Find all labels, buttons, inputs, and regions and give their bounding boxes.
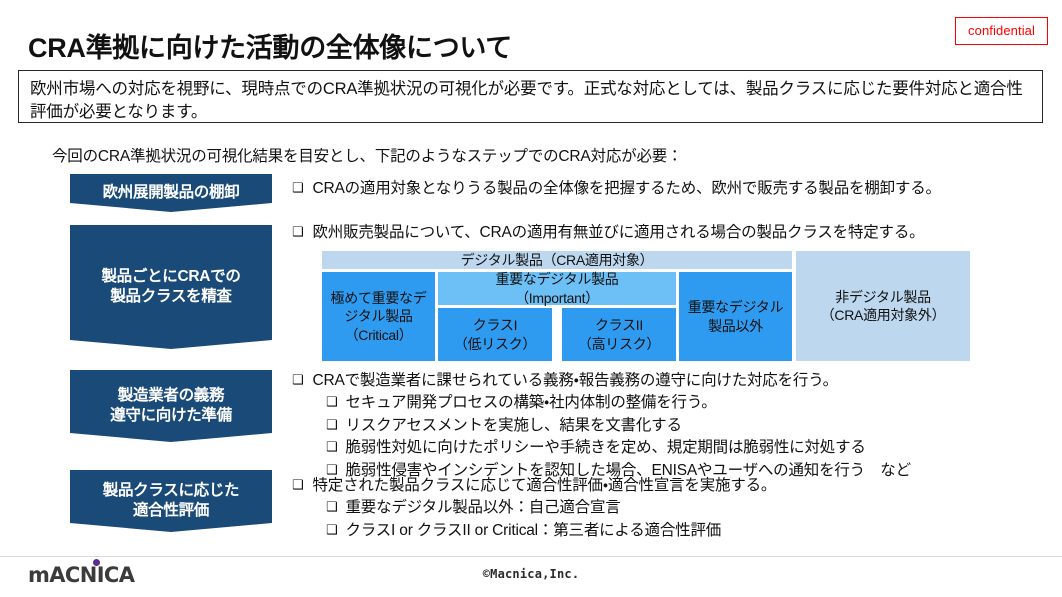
- table-cell-other-digital-text: 重要なデジタル 製品以外: [688, 298, 784, 334]
- bullet-step4-sub-1: ❑ 重要なデジタル製品以外：自己適合宣言: [326, 497, 776, 519]
- bullet-step3-sub-2: ❑ リスクアセスメントを実施し、結果を文書化する: [326, 415, 911, 437]
- step-2-label-line1: 製品ごとにCRAでの: [101, 268, 240, 285]
- copyright-text: ©Macnica,Inc.: [0, 567, 1062, 581]
- step-4-label: 製品クラスに応じた 適合性評価: [97, 481, 246, 521]
- bullet-step4-sub-1-text: 重要なデジタル製品以外：自己適合宣言: [345, 497, 620, 519]
- bullet-step3-sub-3-text: 脆弱性対処に向けたポリシーや手続きを定め、規定期間は脆弱性に対処する: [345, 437, 865, 459]
- checkbox-bullet-icon: ❑: [326, 497, 337, 518]
- step-1-label: 欧州展開製品の棚卸: [97, 183, 246, 203]
- table-cell-class1-text: クラスI （低リスク）: [454, 316, 536, 352]
- macnica-logo-dot-icon: [93, 559, 100, 566]
- table-cell-critical-text: 極めて重要なデ ジタル製品 （Critical）: [331, 289, 427, 344]
- table-cell-important: 重要なデジタル製品 （Important）: [438, 272, 676, 305]
- lead-text: 今回のCRA準拠状況の可視化結果を目安とし、下記のようなステップでのCRA対応が…: [52, 144, 682, 166]
- table-cell-class2-text: クラスII （高リスク）: [578, 316, 660, 352]
- step-box-4[interactable]: 製品クラスに応じた 適合性評価: [70, 470, 272, 532]
- other-digital-line1: 重要なデジタル: [688, 299, 784, 315]
- checkbox-bullet-icon: ❑: [326, 437, 337, 458]
- step-3-label-line1: 製造業者の義務: [118, 387, 224, 404]
- step-box-2[interactable]: 製品ごとにCRAでの 製品クラスを精査: [70, 225, 272, 349]
- step4-content: ❑ 特定された製品クラスに応じて適合性評価・適合性宣言を実施する。 ❑ 重要なデ…: [292, 475, 776, 542]
- step-2-label: 製品ごとにCRAでの 製品クラスを精査: [95, 267, 246, 307]
- non-digital-line2: （CRA適用対象外）: [821, 307, 946, 323]
- table-cell-important-text: 重要なデジタル製品 （Important）: [495, 270, 618, 306]
- bullet-step1: ❑ CRAの適用対象となりうる製品の全体像を把握するため、欧州で販売する製品を棚…: [292, 178, 941, 200]
- table-cell-non-digital-text: 非デジタル製品 （CRA適用対象外）: [821, 288, 946, 324]
- table-cell-non-digital: 非デジタル製品 （CRA適用対象外）: [796, 251, 970, 361]
- bullet-step3-text: CRAで製造業者に課せられている義務・報告義務の遵守に向けた対応を行う。: [312, 370, 837, 392]
- class2-line2: （高リスク）: [578, 336, 660, 352]
- bullet-step4-text: 特定された製品クラスに応じて適合性評価・適合性宣言を実施する。: [312, 475, 776, 497]
- checkbox-bullet-icon: ❑: [292, 475, 303, 496]
- class1-line1: クラスI: [473, 317, 517, 333]
- summary-text: 欧州市場への対応を視野に、現時点でのCRA準拠状況の可視化が必要です。正式な対応…: [30, 78, 1031, 125]
- checkbox-bullet-icon: ❑: [292, 178, 303, 199]
- critical-line1: 極めて重要なデ: [331, 290, 427, 306]
- checkbox-bullet-icon: ❑: [292, 370, 303, 391]
- step-4-label-line2: 適合性評価: [133, 502, 209, 519]
- step-3-label: 製造業者の義務 遵守に向けた準備: [104, 386, 238, 426]
- table-cell-critical: 極めて重要なデ ジタル製品 （Critical）: [322, 272, 435, 361]
- checkbox-bullet-icon: ❑: [326, 392, 337, 413]
- checkbox-bullet-icon: ❑: [326, 415, 337, 436]
- critical-line3: （Critical）: [345, 327, 413, 343]
- table-cell-class1: クラスI （低リスク）: [438, 308, 552, 361]
- bullet-step3: ❑ CRAで製造業者に課せられている義務・報告義務の遵守に向けた対応を行う。: [292, 370, 911, 392]
- bullet-step4: ❑ 特定された製品クラスに応じて適合性評価・適合性宣言を実施する。: [292, 475, 776, 497]
- step2-content: ❑ 欧州販売製品について、CRAの適用有無並びに適用される場合の製品クラスを特定…: [292, 222, 924, 244]
- important-line2: （Important）: [515, 290, 599, 306]
- summary-box: 欧州市場への対応を視野に、現時点でのCRA準拠状況の可視化が必要です。正式な対応…: [18, 70, 1043, 123]
- checkbox-bullet-icon: ❑: [292, 222, 303, 243]
- step-2-label-line2: 製品クラスを精査: [110, 288, 231, 305]
- bullet-step3-sub-2-text: リスクアセスメントを実施し、結果を文書化する: [345, 415, 681, 437]
- checkbox-bullet-icon: ❑: [326, 520, 337, 541]
- step1-content: ❑ CRAの適用対象となりうる製品の全体像を把握するため、欧州で販売する製品を棚…: [292, 178, 941, 200]
- table-cell-digital-header: デジタル製品（CRA適用対象）: [322, 251, 792, 269]
- bullet-step2: ❑ 欧州販売製品について、CRAの適用有無並びに適用される場合の製品クラスを特定…: [292, 222, 924, 244]
- step-3-label-line2: 遵守に向けた準備: [110, 407, 232, 424]
- step-box-1[interactable]: 欧州展開製品の棚卸: [70, 174, 272, 212]
- other-digital-line2: 製品以外: [708, 318, 763, 334]
- page-title: CRA準拠に向けた活動の全体像について: [28, 26, 512, 65]
- bullet-step2-text: 欧州販売製品について、CRAの適用有無並びに適用される場合の製品クラスを特定する…: [312, 222, 924, 244]
- step3-content: ❑ CRAで製造業者に課せられている義務・報告義務の遵守に向けた対応を行う。 ❑…: [292, 370, 911, 482]
- non-digital-line1: 非デジタル製品: [835, 289, 931, 305]
- step-box-3[interactable]: 製造業者の義務 遵守に向けた準備: [70, 370, 272, 442]
- bullet-step4-sub-2-text: クラスI or クラスII or Critical：第三者による適合性評価: [345, 520, 721, 542]
- table-cell-other-digital: 重要なデジタル 製品以外: [679, 272, 792, 361]
- important-line1: 重要なデジタル製品: [495, 271, 618, 287]
- class2-line1: クラスII: [595, 317, 643, 333]
- footer-divider: [0, 556, 1062, 557]
- bullet-step1-text: CRAの適用対象となりうる製品の全体像を把握するため、欧州で販売する製品を棚卸す…: [312, 178, 940, 200]
- slide-root: confidential CRA準拠に向けた活動の全体像について 欧州市場への対…: [0, 0, 1062, 597]
- table-cell-class2: クラスII （高リスク）: [562, 308, 676, 361]
- bullet-step4-sub-2: ❑ クラスI or クラスII or Critical：第三者による適合性評価: [326, 520, 776, 542]
- bullet-step3-sub-1-text: セキュア開発プロセスの構築・社内体制の整備を行う。: [345, 392, 716, 414]
- bullet-step3-sub-3: ❑ 脆弱性対処に向けたポリシーや手続きを定め、規定期間は脆弱性に対処する: [326, 437, 911, 459]
- critical-line2: ジタル製品: [344, 308, 412, 324]
- step-4-label-line1: 製品クラスに応じた: [103, 482, 240, 499]
- bullet-step3-sub-1: ❑ セキュア開発プロセスの構築・社内体制の整備を行う。: [326, 392, 911, 414]
- confidential-badge: confidential: [955, 17, 1048, 45]
- product-class-table: デジタル製品（CRA適用対象） 極めて重要なデ ジタル製品 （Critical）…: [322, 251, 970, 361]
- class1-line2: （低リスク）: [454, 336, 536, 352]
